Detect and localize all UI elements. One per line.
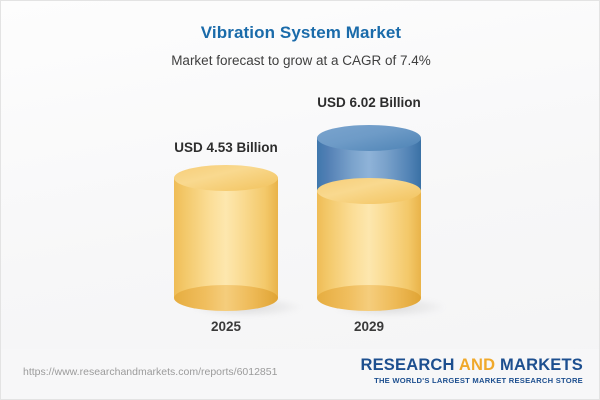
cylinder-top-cap-growth — [317, 125, 421, 151]
cylinder-bottom-cap — [174, 285, 278, 311]
cylinder-bottom-cap — [317, 285, 421, 311]
brand-logo: RESEARCH AND MARKETS THE WORLD'S LARGEST… — [360, 357, 583, 385]
cylinder-2029 — [317, 125, 421, 311]
cylinder-divider-cap — [317, 178, 421, 204]
logo-tagline: THE WORLD'S LARGEST MARKET RESEARCH STOR… — [360, 376, 583, 385]
category-label-2025: 2025 — [156, 319, 296, 334]
cylinder-body-base — [174, 178, 278, 298]
report-url[interactable]: https://www.researchandmarkets.com/repor… — [23, 366, 277, 378]
chart-card: Vibration System Market Market forecast … — [0, 0, 600, 400]
logo-wordmark: RESEARCH AND MARKETS — [360, 357, 583, 374]
category-label-2029: 2029 — [299, 319, 439, 334]
plot-area: USD 4.53 Billion 2025 USD 6.02 Billion — [1, 1, 600, 349]
cylinder-2025 — [174, 165, 278, 311]
cylinder-top-cap-base — [174, 165, 278, 191]
logo-word-and: AND — [459, 356, 495, 374]
footer: https://www.researchandmarkets.com/repor… — [1, 349, 600, 399]
value-label-2029: USD 6.02 Billion — [299, 95, 439, 110]
logo-word-research: RESEARCH — [360, 356, 454, 374]
logo-word-markets: MARKETS — [500, 356, 583, 374]
value-label-2025: USD 4.53 Billion — [156, 140, 296, 155]
